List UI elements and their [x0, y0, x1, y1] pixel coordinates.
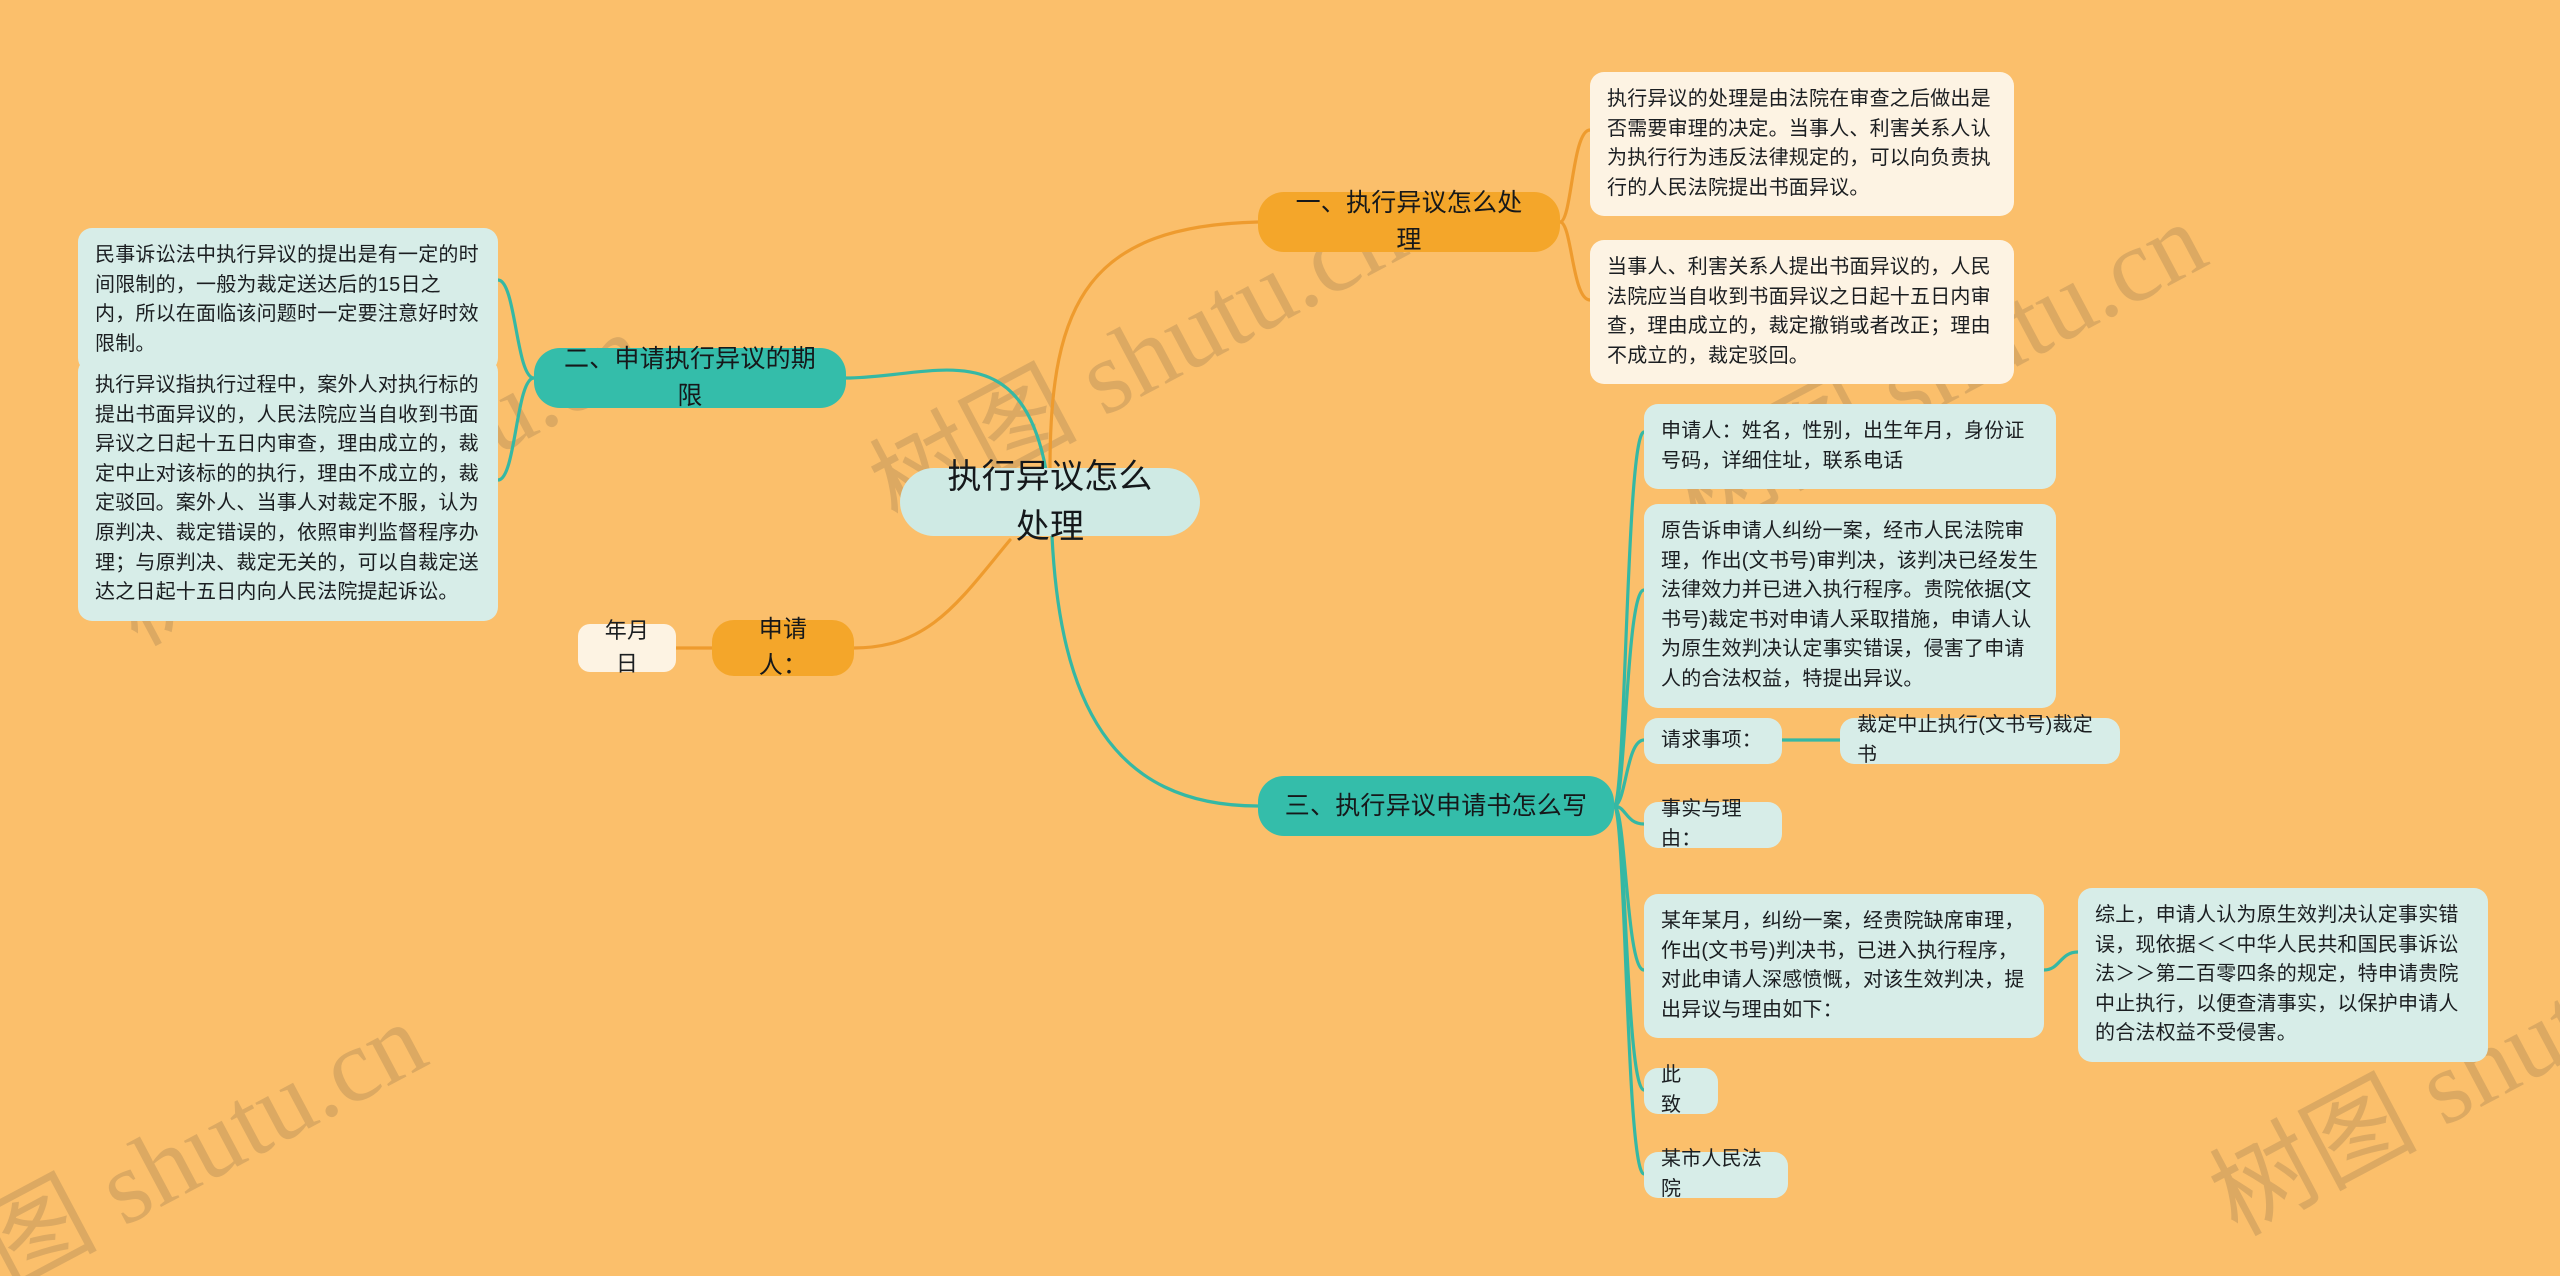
leaf-b3-c5-g1[interactable]: 综上，申请人认为原生效判决认定事实错误，现依据＜＜中华人民共和国民事诉讼法＞＞第… — [2078, 888, 2488, 1062]
applicant-node[interactable]: 申请人： — [712, 620, 854, 676]
branch-node-1[interactable]: 一、执行异议怎么处理 — [1258, 192, 1560, 252]
leaf-b3-c1-label: 申请人：姓名，性别，出生年月，身份证号码，详细住址，联系电话 — [1661, 417, 2039, 476]
leaf-b2-c2[interactable]: 执行异议指执行过程中，案外人对执行标的提出书面异议的，人民法院应当自收到书面异议… — [78, 358, 498, 621]
link-root-branch1 — [1050, 222, 1258, 468]
leaf-b1-c2[interactable]: 当事人、利害关系人提出书面异议的，人民法院应当自收到书面异议之日起十五日内审查，… — [1590, 240, 2014, 384]
branch-node-2-label: 二、申请执行异议的期限 — [560, 341, 820, 415]
mindmap-canvas: 树图 shutu.cn 树图 shutu.cn 树图 shutu.cn 树图 s… — [0, 0, 2560, 1276]
link-branch1-child2 — [1560, 222, 1590, 300]
branch-node-1-label: 一、执行异议怎么处理 — [1284, 185, 1534, 259]
leaf-b3-c3[interactable]: 请求事项： — [1644, 718, 1782, 764]
leaf-b3-c2-label: 原告诉申请人纠纷一案，经市人民法院审理，作出(文书号)审判决，该判决已经发生法律… — [1661, 517, 2039, 695]
leaf-b1-c1[interactable]: 执行异议的处理是由法院在审查之后做出是否需要审理的决定。当事人、利害关系人认为执… — [1590, 72, 2014, 216]
date-node-label: 年月日 — [596, 615, 658, 680]
branch-node-2[interactable]: 二、申请执行异议的期限 — [534, 348, 846, 408]
leaf-b3-c3-g1-label: 裁定中止执行(文书号)裁定书 — [1857, 711, 2103, 770]
link-branch3-child2 — [1614, 590, 1644, 806]
watermark-text: 树图 shutu.cn — [0, 956, 446, 1276]
leaf-b3-c5[interactable]: 某年某月，纠纷一案，经贵院缺席审理，作出(文书号)判决书，已进入执行程序，对此申… — [1644, 894, 2044, 1038]
applicant-node-label: 申请人： — [740, 612, 826, 683]
link-branch3-child5 — [1614, 806, 1644, 970]
leaf-b3-c3-g1[interactable]: 裁定中止执行(文书号)裁定书 — [1840, 718, 2120, 764]
leaf-b3-c3-label: 请求事项： — [1661, 726, 1765, 756]
date-node[interactable]: 年月日 — [578, 624, 676, 672]
link-branch3-child3 — [1614, 740, 1644, 806]
link-branch3-child7 — [1614, 806, 1644, 1174]
leaf-b3-c6[interactable]: 此致 — [1644, 1068, 1718, 1114]
leaf-b3-c7-label: 某市人民法院 — [1661, 1145, 1771, 1204]
leaf-b3-c1[interactable]: 申请人：姓名，性别，出生年月，身份证号码，详细住址，联系电话 — [1644, 404, 2056, 489]
link-facts-summary — [2044, 952, 2078, 970]
leaf-b3-c6-label: 此致 — [1661, 1061, 1701, 1120]
link-branch1-child1 — [1560, 130, 1590, 222]
link-branch3-child6 — [1614, 806, 1644, 1090]
link-root-branch3 — [1052, 536, 1258, 806]
leaf-b3-c2[interactable]: 原告诉申请人纠纷一案，经市人民法院审理，作出(文书号)审判决，该判决已经发生法律… — [1644, 504, 2056, 708]
leaf-b3-c4-label: 事实与理由： — [1661, 795, 1765, 854]
link-branch3-child1 — [1614, 432, 1644, 806]
link-branch3-child4 — [1614, 806, 1644, 824]
branch-node-3[interactable]: 三、执行异议申请书怎么写 — [1258, 776, 1614, 836]
leaf-b1-c1-label: 执行异议的处理是由法院在审查之后做出是否需要审理的决定。当事人、利害关系人认为执… — [1607, 85, 1997, 203]
leaf-b3-c5-g1-label: 综上，申请人认为原生效判决认定事实错误，现依据＜＜中华人民共和国民事诉讼法＞＞第… — [2095, 901, 2471, 1049]
branch-node-3-label: 三、执行异议申请书怎么写 — [1284, 788, 1588, 825]
root-node-label: 执行异议怎么处理 — [934, 452, 1166, 553]
link-applicant-root — [854, 540, 1010, 648]
leaf-b3-c4[interactable]: 事实与理由： — [1644, 802, 1782, 848]
link-branch2-child1 — [498, 280, 534, 378]
link-branch2-child2 — [498, 378, 534, 480]
leaf-b3-c5-label: 某年某月，纠纷一案，经贵院缺席审理，作出(文书号)判决书，已进入执行程序，对此申… — [1661, 907, 2027, 1025]
leaf-b2-c1[interactable]: 民事诉讼法中执行异议的提出是有一定的时间限制的，一般为裁定送达后的15日之内，所… — [78, 228, 498, 372]
leaf-b3-c7[interactable]: 某市人民法院 — [1644, 1152, 1788, 1198]
leaf-b2-c2-label: 执行异议指执行过程中，案外人对执行标的提出书面异议的，人民法院应当自收到书面异议… — [95, 371, 481, 608]
leaf-b1-c2-label: 当事人、利害关系人提出书面异议的，人民法院应当自收到书面异议之日起十五日内审查，… — [1607, 253, 1997, 371]
root-node[interactable]: 执行异议怎么处理 — [900, 468, 1200, 536]
leaf-b2-c1-label: 民事诉讼法中执行异议的提出是有一定的时间限制的，一般为裁定送达后的15日之内，所… — [95, 241, 481, 359]
